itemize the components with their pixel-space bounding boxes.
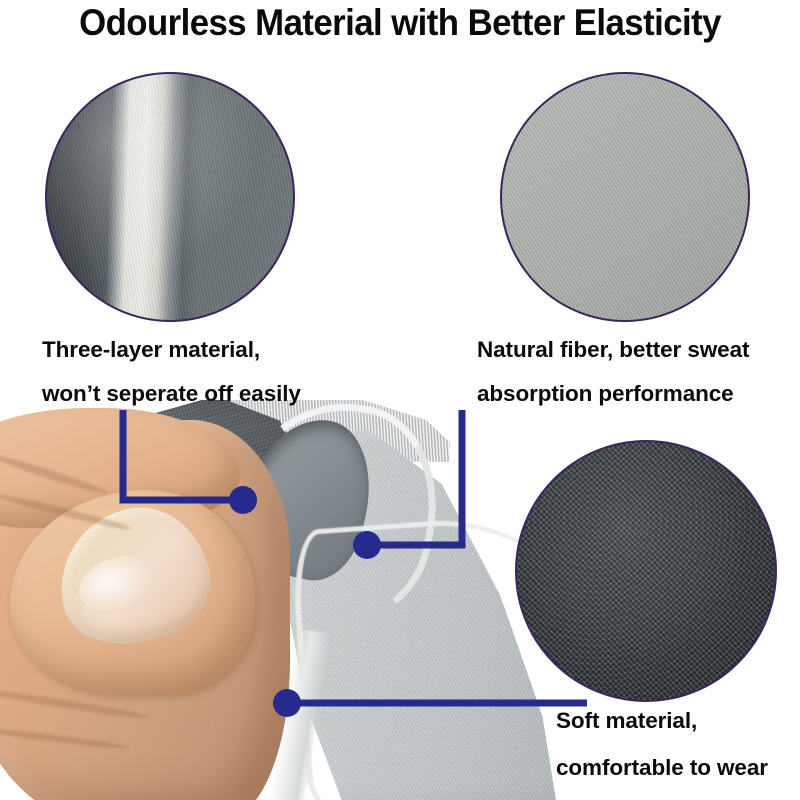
callout-label-soft-material-line2: comfortable to wear [556,757,768,780]
circle-photo-soft-material [515,440,777,702]
callout-label-soft-material-line1: Soft material, [556,710,697,733]
texture-overlay [502,74,748,320]
sheen-overlay [47,74,293,320]
circle-photo-three-layer [45,72,295,322]
callout-label-three-layer-line1: Three-layer material, [42,339,260,362]
page-title: Odourless Material with Better Elasticit… [24,2,776,44]
callout-label-natural-fiber-line1: Natural fiber, better sweat [477,339,749,362]
circle-photo-natural-fiber [500,72,750,322]
infographic-canvas: Odourless Material with Better Elasticit… [0,0,800,800]
callout-label-natural-fiber-line2: absorption performance [477,383,734,406]
texture-overlay [517,442,775,700]
callout-label-three-layer-line2: won’t seperate off easily [42,383,301,406]
